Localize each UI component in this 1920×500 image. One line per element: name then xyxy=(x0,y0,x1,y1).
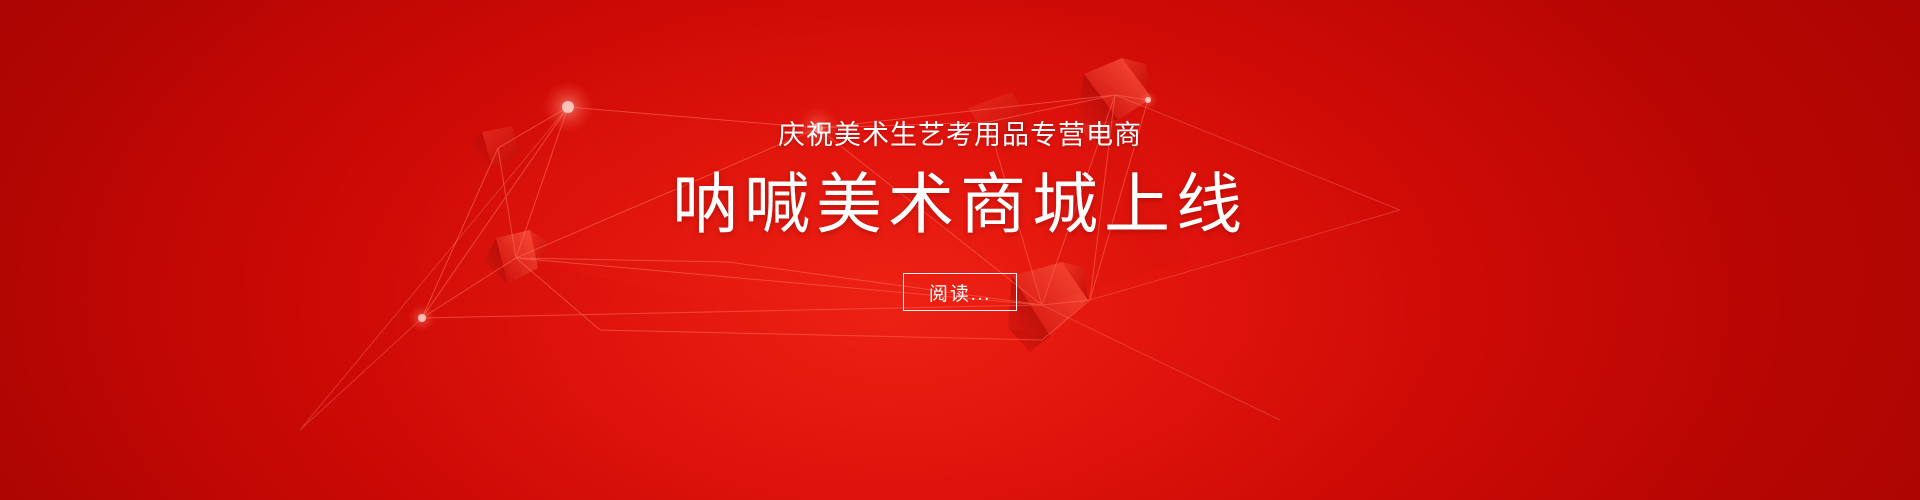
read-more-button[interactable]: 阅读... xyxy=(903,273,1017,311)
banner-subtitle: 庆祝美术生艺考用品专营电商 xyxy=(778,122,1142,149)
banner-content: 庆祝美术生艺考用品专营电商 呐喊美术商城上线 阅读... xyxy=(0,0,1920,500)
hero-banner: 庆祝美术生艺考用品专营电商 呐喊美术商城上线 阅读... xyxy=(0,0,1920,500)
banner-title: 呐喊美术商城上线 xyxy=(672,173,1248,239)
